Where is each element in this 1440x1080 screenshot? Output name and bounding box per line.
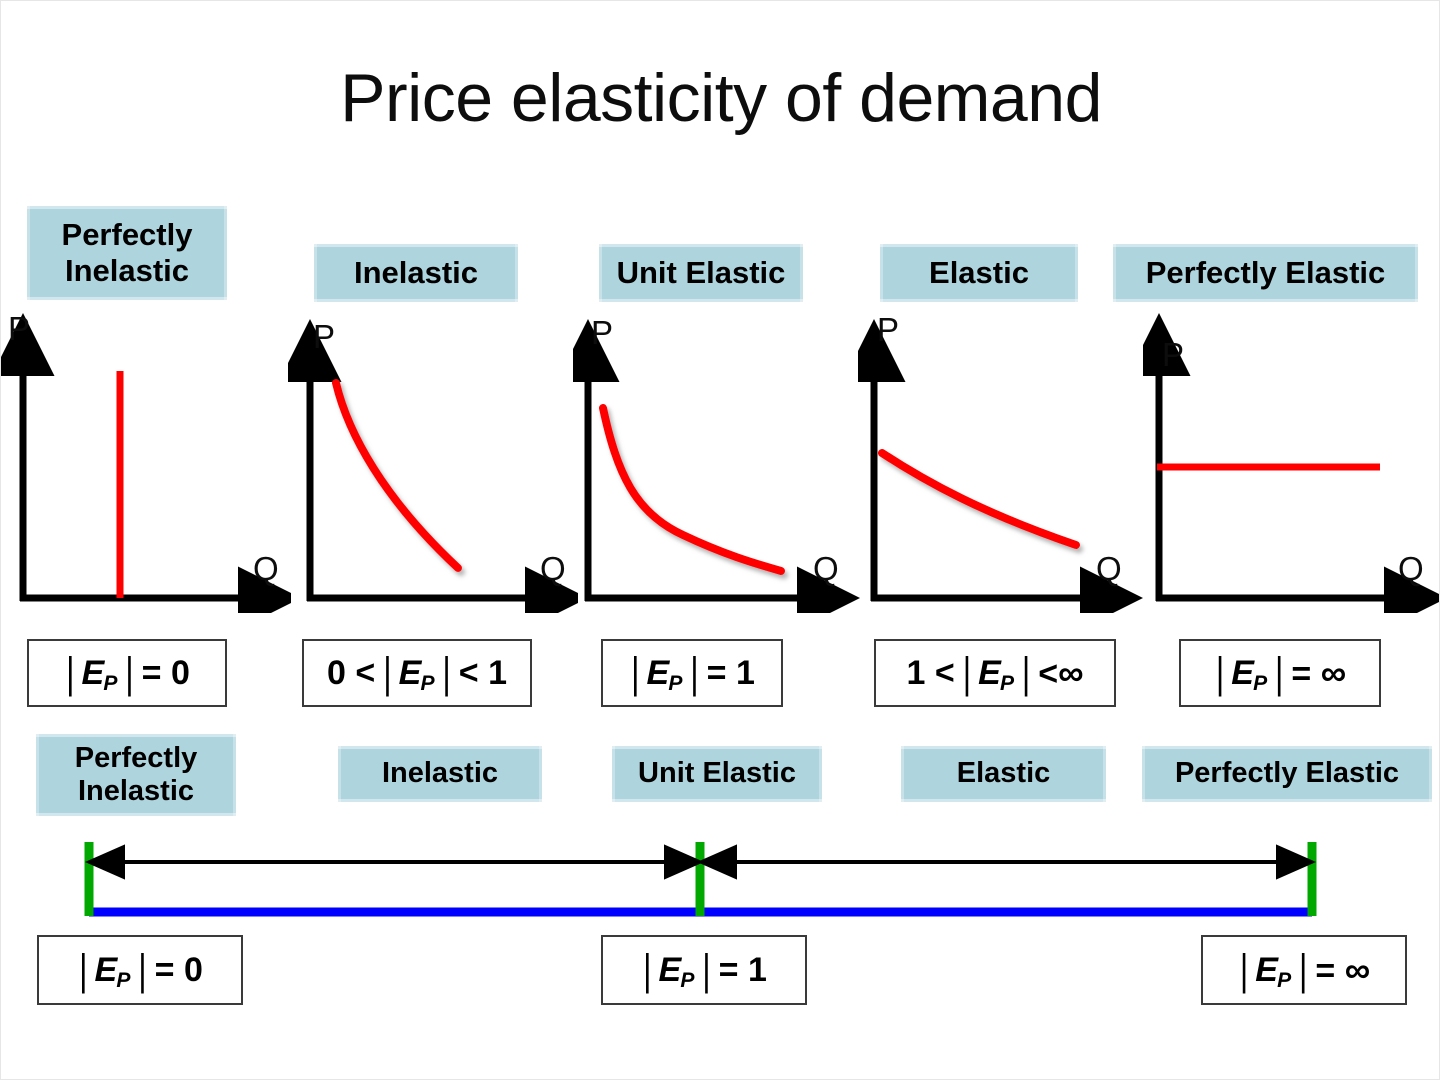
abs-bar-open: |	[1211, 648, 1229, 698]
formula-ep-inf: | EP | = ∞	[1179, 639, 1381, 707]
abs-bar-close: |	[133, 945, 151, 995]
bottom-label-unit-elastic-text: Unit Elastic	[638, 757, 796, 790]
demand-curve-inelastic	[336, 383, 458, 568]
top-label-inelastic-text: Inelastic	[354, 255, 478, 291]
upper-bound: <∞	[1035, 653, 1086, 694]
top-label-perfectly-inelastic-text: Perfectly Inelastic	[27, 217, 227, 288]
abs-bar-open: |	[74, 945, 92, 995]
x-axis-label: Q	[540, 550, 566, 588]
y-axis-label: P	[8, 310, 30, 348]
x-axis-label: Q	[253, 550, 279, 588]
abs-bar-open: |	[1235, 945, 1253, 995]
ep-symbol: EP	[976, 654, 1017, 693]
ep-symbol: EP	[657, 951, 698, 990]
ep-symbol: EP	[1253, 951, 1294, 990]
bottom-label-perfectly-elastic: Perfectly Elastic	[1142, 746, 1432, 802]
bottom-label-elastic: Elastic	[901, 746, 1106, 802]
equals-zero: = 0	[152, 951, 206, 990]
upper-bound: < 1	[456, 654, 510, 693]
bottom-label-unit-elastic: Unit Elastic	[612, 746, 822, 802]
graph-perfectly-inelastic: P Q	[1, 313, 291, 613]
ep-symbol: EP	[397, 654, 438, 693]
abs-bar-close: |	[697, 945, 715, 995]
bottom-label-perfectly-inelastic-text: Perfectly Inelastic	[36, 742, 236, 809]
elasticity-number-line	[1, 821, 1440, 931]
top-label-perfectly-inelastic: Perfectly Inelastic	[27, 206, 227, 300]
bottom-label-perfectly-elastic-text: Perfectly Elastic	[1175, 757, 1399, 790]
formula-ep-1: | EP | = 1	[601, 639, 783, 707]
x-axis-label: Q	[1398, 550, 1424, 588]
bottom-label-elastic-text: Elastic	[957, 757, 1051, 790]
abs-bar-close: |	[437, 648, 455, 698]
abs-bar-close: |	[1270, 648, 1288, 698]
slide-canvas: Price elasticity of demand Perfectly Ine…	[0, 0, 1440, 1080]
bottom-label-perfectly-inelastic: Perfectly Inelastic	[36, 734, 236, 816]
abs-bar-open: |	[378, 648, 396, 698]
y-axis-label: P	[313, 318, 335, 356]
graph-inelastic: P Q	[288, 313, 578, 613]
x-axis-label: Q	[1096, 550, 1122, 588]
top-label-elastic-text: Elastic	[929, 255, 1029, 291]
top-label-unit-elastic: Unit Elastic	[599, 244, 803, 302]
lower-bound: 1 <	[903, 654, 957, 693]
top-label-unit-elastic-text: Unit Elastic	[617, 255, 786, 291]
ep-symbol: EP	[93, 951, 134, 990]
equals-infinity: = ∞	[1288, 653, 1349, 694]
abs-bar-close: |	[120, 648, 138, 698]
graph-unit-elastic: P Q	[573, 313, 863, 613]
formula-ep-0-to-1: 0 < | EP | < 1	[302, 639, 532, 707]
bottom-formula-ep-1: | EP | = 1	[601, 935, 807, 1005]
y-axis-label: P	[591, 314, 613, 352]
abs-bar-open: |	[626, 648, 644, 698]
equals-zero: = 0	[139, 654, 193, 693]
ep-symbol: EP	[645, 654, 686, 693]
y-axis-label: P	[877, 311, 899, 349]
top-label-elastic: Elastic	[880, 244, 1078, 302]
bottom-label-inelastic: Inelastic	[338, 746, 542, 802]
ep-symbol: EP	[80, 654, 121, 693]
demand-curve-elastic	[882, 453, 1076, 545]
bottom-formula-ep-inf: | EP | = ∞	[1201, 935, 1407, 1005]
page-title: Price elasticity of demand	[1, 59, 1440, 137]
bottom-label-inelastic-text: Inelastic	[382, 757, 498, 790]
abs-bar-open: |	[638, 945, 656, 995]
top-label-inelastic: Inelastic	[314, 244, 518, 302]
formula-ep-0: | EP | = 0	[27, 639, 227, 707]
lower-bound: 0 <	[324, 654, 378, 693]
abs-bar-close: |	[1017, 648, 1035, 698]
ep-symbol: EP	[1229, 654, 1270, 693]
abs-bar-close: |	[685, 648, 703, 698]
equals-infinity: = ∞	[1312, 950, 1373, 991]
bottom-formula-ep-0: | EP | = 0	[37, 935, 243, 1005]
graph-perfectly-elastic: P Q	[1143, 313, 1440, 613]
abs-bar-open: |	[61, 648, 79, 698]
abs-bar-open: |	[958, 648, 976, 698]
equals-one: = 1	[716, 951, 770, 990]
demand-curve-unit-elastic	[603, 408, 781, 571]
formula-ep-1-to-inf: 1 < | EP | <∞	[874, 639, 1116, 707]
abs-bar-close: |	[1294, 945, 1312, 995]
y-axis-label: P	[1162, 336, 1184, 374]
top-label-perfectly-elastic-text: Perfectly Elastic	[1146, 255, 1386, 291]
graph-elastic: P Q	[858, 313, 1148, 613]
x-axis-label: Q	[813, 550, 839, 588]
equals-one: = 1	[704, 654, 758, 693]
top-label-perfectly-elastic: Perfectly Elastic	[1113, 244, 1418, 302]
